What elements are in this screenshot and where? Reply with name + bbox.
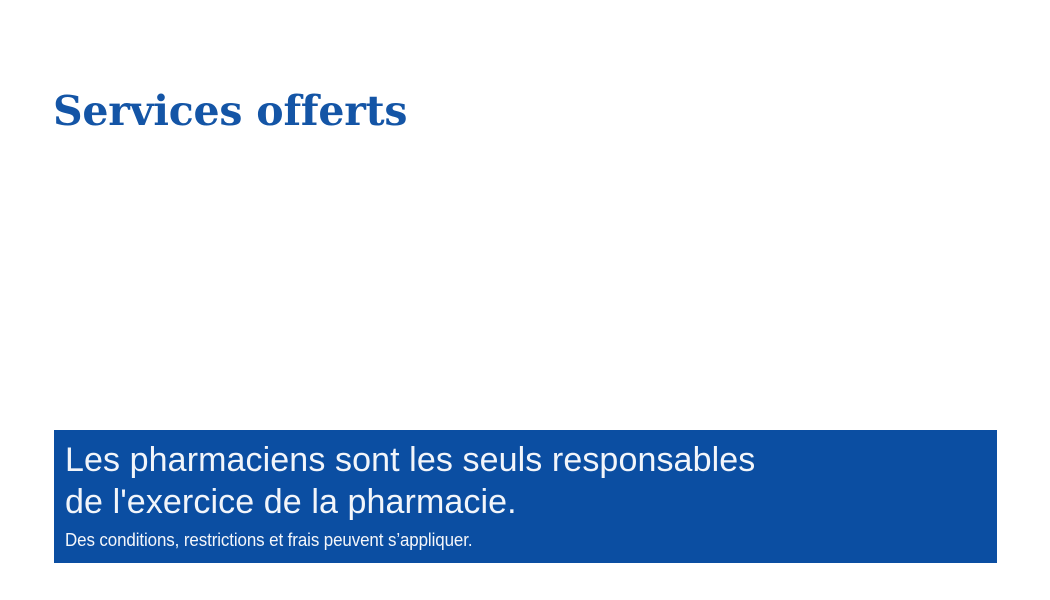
page-title: Services offerts bbox=[53, 88, 407, 135]
callout-headline: Les pharmaciens sont les seuls responsab… bbox=[65, 439, 997, 523]
callout-banner: Les pharmaciens sont les seuls responsab… bbox=[54, 430, 997, 563]
callout-subtext: Des conditions, restrictions et frais pe… bbox=[65, 529, 941, 551]
callout-headline-line-2: de l'exercice de la pharmacie. bbox=[65, 481, 997, 523]
callout-headline-line-1: Les pharmaciens sont les seuls responsab… bbox=[65, 439, 997, 481]
slide-content-area bbox=[54, 130, 997, 420]
slide-canvas: Services offerts Les pharmaciens sont le… bbox=[0, 0, 1050, 600]
